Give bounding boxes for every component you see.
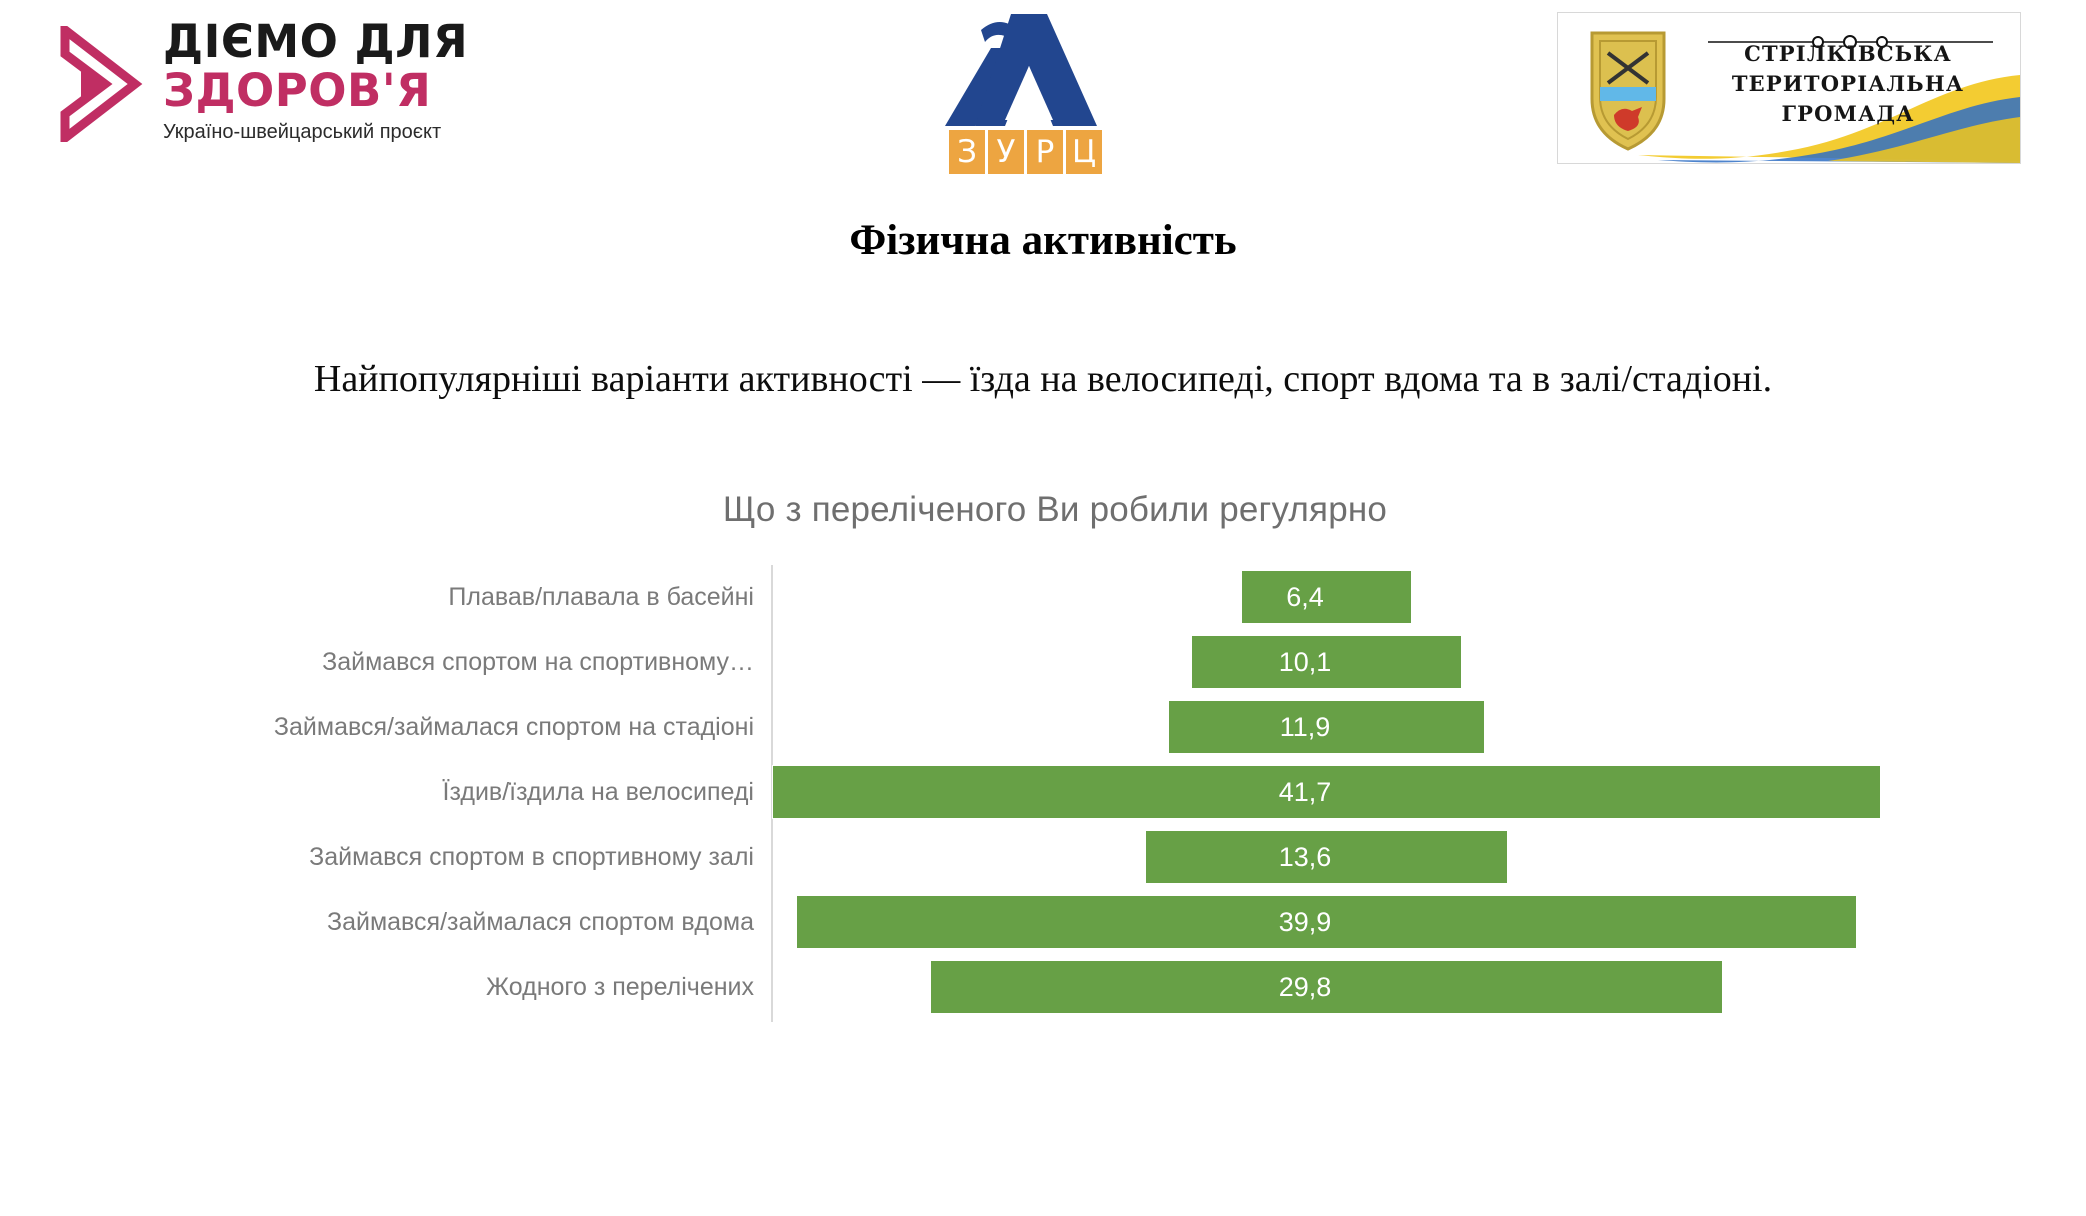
coat-of-arms-icon bbox=[1580, 27, 1676, 153]
category-label: Займався/займалася спортом вдома bbox=[230, 890, 754, 955]
bar[interactable] bbox=[1146, 831, 1507, 883]
chart-container: Що з переліченого Ви робили регулярно Пл… bbox=[230, 490, 1880, 1050]
chart-row: Займався спортом в спортивному залі13,6 bbox=[230, 825, 1880, 890]
bar[interactable] bbox=[1242, 571, 1412, 623]
zurc-letter-0: З bbox=[949, 130, 985, 174]
category-label: Жодного з перелічених bbox=[230, 955, 754, 1020]
bar[interactable] bbox=[1192, 636, 1460, 688]
bar[interactable] bbox=[1169, 701, 1485, 753]
category-label: Плавав/плавала в басейні bbox=[230, 565, 754, 630]
zurc-letter-2: Р bbox=[1027, 130, 1063, 174]
bar-track: 10,1 bbox=[773, 630, 1880, 695]
bar-track: 29,8 bbox=[773, 955, 1880, 1020]
chevron-mark-icon bbox=[55, 26, 143, 142]
bar-track: 13,6 bbox=[773, 825, 1880, 890]
bar-track: 11,9 bbox=[773, 695, 1880, 760]
hromada-line2: ТЕРИТОРІАЛЬНА bbox=[1698, 69, 1998, 99]
category-label: Займався/займалася спортом на стадіоні bbox=[230, 695, 754, 760]
zurc-delta-icon bbox=[935, 8, 1125, 133]
category-label: Займався спортом на спортивному… bbox=[230, 630, 754, 695]
zurc-letter-3: Ц bbox=[1066, 130, 1102, 174]
bar-track: 6,4 bbox=[773, 565, 1880, 630]
logo-left-line3: Україно-швейцарський проєкт bbox=[163, 119, 533, 145]
category-label: Займався спортом в спортивному залі bbox=[230, 825, 754, 890]
chart-row: Займався спортом на спортивному…10,1 bbox=[230, 630, 1880, 695]
bar-track: 41,7 bbox=[773, 760, 1880, 825]
page-title: Фізична активність bbox=[0, 216, 2086, 265]
chart-row: Займався/займалася спортом на стадіоні11… bbox=[230, 695, 1880, 760]
hromada-text: СТРІЛКІВСЬКА ТЕРИТОРІАЛЬНА ГРОМАДА bbox=[1698, 39, 1998, 129]
bar-track: 39,9 bbox=[773, 890, 1880, 955]
logo-diemo-dlya-zdorovya: ДІЄМО ДЛЯ ЗДОРОВ'Я Україно-швейцарський … bbox=[55, 18, 535, 148]
hromada-line1: СТРІЛКІВСЬКА bbox=[1698, 39, 1998, 69]
zurc-letters: З У Р Ц bbox=[949, 130, 1102, 174]
page-subtitle: Найпопулярніші варіанти активності — їзд… bbox=[0, 357, 2086, 401]
header-logos: ДІЄМО ДЛЯ ЗДОРОВ'Я Україно-швейцарський … bbox=[0, 0, 2086, 200]
chart-row: Плавав/плавала в басейні6,4 bbox=[230, 565, 1880, 630]
bar[interactable] bbox=[797, 896, 1856, 948]
hromada-line3: ГРОМАДА bbox=[1698, 99, 1998, 129]
chart-title: Що з переліченого Ви робили регулярно bbox=[680, 490, 1430, 530]
chart-row: Жодного з перелічених29,8 bbox=[230, 955, 1880, 1020]
logo-zurc: З У Р Ц bbox=[935, 8, 1125, 178]
logo-left-line2: ЗДОРОВ'Я bbox=[163, 66, 533, 116]
chart-row: Займався/займалася спортом вдома39,9 bbox=[230, 890, 1880, 955]
logo-left-line1: ДІЄМО ДЛЯ bbox=[163, 18, 533, 66]
bar[interactable] bbox=[931, 961, 1722, 1013]
logo-strilkivska-hromada: СТРІЛКІВСЬКА ТЕРИТОРІАЛЬНА ГРОМАДА bbox=[1557, 12, 2021, 164]
category-label: Їздив/їздила на велосипеді bbox=[230, 760, 754, 825]
bar[interactable] bbox=[773, 766, 1880, 818]
chart-plot-area: Плавав/плавала в басейні6,4Займався спор… bbox=[230, 565, 1880, 1025]
zurc-letter-1: У bbox=[988, 130, 1024, 174]
chart-row: Їздив/їздила на велосипеді41,7 bbox=[230, 760, 1880, 825]
